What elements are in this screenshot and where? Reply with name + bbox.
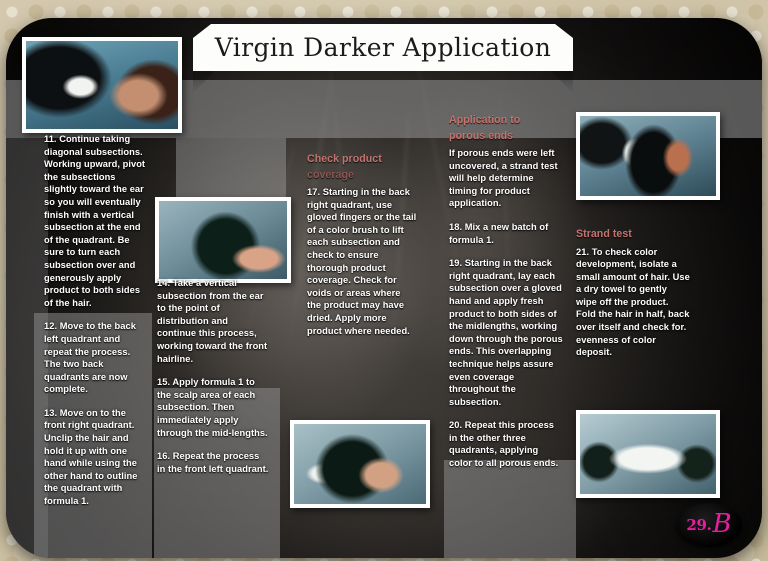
- photo-bottom-right: [576, 410, 720, 498]
- step-15: 15. Apply formula 1 to the scalp area of…: [157, 376, 269, 439]
- text-column-1: 11. Continue taking diagonal subsections…: [44, 133, 148, 508]
- step-21: 21. To check color development, isolate …: [576, 246, 690, 359]
- heading-check-product-coverage-line2: coverage: [307, 169, 417, 183]
- step-17: 17. Starting in the back right quadrant,…: [307, 186, 417, 337]
- heading-strand-test: Strand test: [576, 228, 690, 242]
- photo-bottom-center: [290, 420, 430, 508]
- band-column-4: [444, 460, 576, 558]
- photo-top-right: [576, 112, 720, 200]
- porous-ends-note: If porous ends were left uncovered, a st…: [449, 147, 563, 210]
- photo-top-right-image: [580, 116, 716, 196]
- step-13: 13. Move on to the front right quadrant.…: [44, 407, 148, 508]
- heading-application-to-porous-ends-line2: porous ends: [449, 130, 563, 144]
- page-title: Virgin Darker Application: [215, 33, 552, 62]
- step-18: 18. Mix a new batch of formula 1.: [449, 221, 563, 246]
- band-upper-left: [176, 138, 286, 198]
- heading-application-to-porous-ends-line1: Application to: [449, 114, 563, 128]
- photo-mid-left: [155, 197, 291, 283]
- step-14: 14. Take a vertical subsection from the …: [157, 277, 269, 365]
- brand-mark-b: B: [713, 511, 732, 537]
- text-column-2: 14. Take a vertical subsection from the …: [157, 277, 269, 475]
- text-column-5: Strand test 21. To check color developme…: [576, 228, 690, 359]
- step-12: 12. Move to the back left quadrant and r…: [44, 320, 148, 396]
- step-20: 20. Repeat this process in the other thr…: [449, 419, 563, 469]
- photo-bottom-right-image: [580, 414, 716, 494]
- slide-stage: Virgin Darker Application 11. Continue t…: [0, 0, 768, 561]
- photo-bottom-center-image: [294, 424, 426, 504]
- text-column-4: Application to porous ends If porous end…: [449, 114, 563, 470]
- step-19: 19. Starting in the back right quadrant,…: [449, 257, 563, 408]
- photo-top-left-image: [26, 41, 178, 129]
- text-column-3: Check product coverage 17. Starting in t…: [307, 153, 417, 337]
- step-16: 16. Repeat the process in the front left…: [157, 450, 269, 475]
- slide-title-banner: Virgin Darker Application: [193, 24, 573, 71]
- brand-logo-badge: 29. B: [676, 503, 742, 547]
- step-11: 11. Continue taking diagonal subsections…: [44, 133, 148, 309]
- slide-number: 29.: [686, 516, 711, 534]
- band-left-edge: [6, 138, 48, 558]
- photo-mid-left-image: [159, 201, 287, 279]
- photo-top-left: [22, 37, 182, 133]
- heading-check-product-coverage-line1: Check product: [307, 153, 417, 167]
